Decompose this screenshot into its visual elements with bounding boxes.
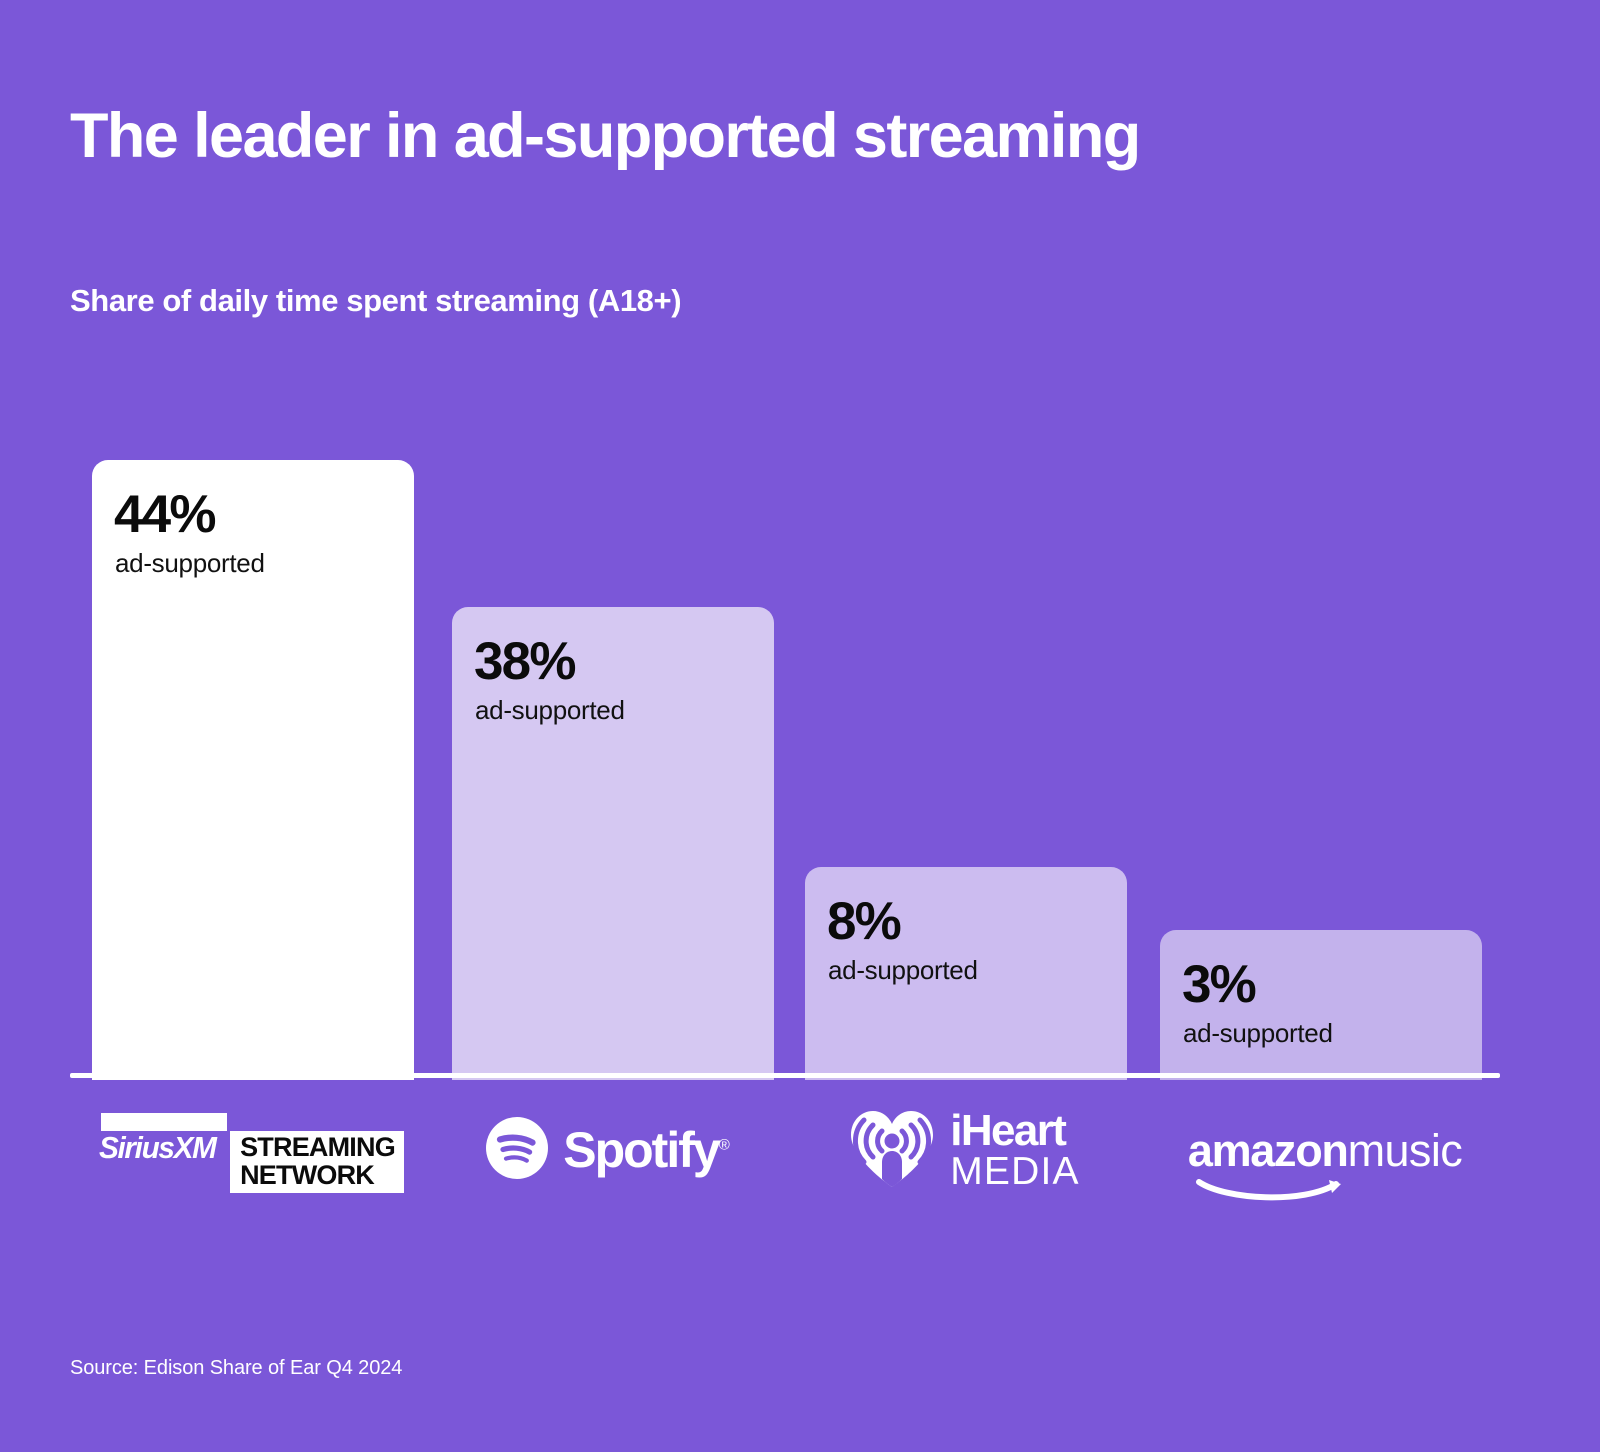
bar-value-label: 3%	[1182, 958, 1255, 1011]
spotify-wordmark-text: Spotify	[563, 1122, 718, 1178]
page-title: The leader in ad-supported streaming	[70, 102, 1470, 171]
bar-iheartmedia: 8% ad-supported	[805, 867, 1127, 1080]
amazon-smile-icon	[1196, 1166, 1348, 1192]
spotify-logo: Spotify®	[485, 1116, 730, 1185]
logo-slot-amazon-music: amazonmusic	[1140, 1085, 1510, 1215]
bar-chart-plot-area: 44% ad-supported 38% ad-supported 8% ad-…	[70, 400, 1530, 1080]
bar-sublabel: ad-supported	[475, 697, 625, 723]
siriusxm-top-bar-shape	[101, 1113, 227, 1131]
chart-axis-line	[70, 1073, 1500, 1078]
infographic-canvas: The leader in ad-supported streaming Sha…	[0, 0, 1600, 1452]
bar-sublabel: ad-supported	[115, 550, 265, 576]
spotify-wordmark: Spotify®	[563, 1125, 730, 1175]
streaming-network-line1: STREAMING	[240, 1134, 395, 1162]
streaming-network-line2: NETWORK	[240, 1162, 395, 1190]
siriusxm-streaming-network-logo: SiriusXM STREAMING NETWORK	[96, 1107, 404, 1193]
chart-subtitle: Share of daily time spent streaming (A18…	[70, 283, 1270, 319]
bar-value-label: 8%	[827, 895, 900, 948]
bar-value-label: 44%	[114, 488, 215, 541]
siriusxm-wordmark-block: SiriusXM	[96, 1107, 230, 1193]
iheart-wordmark-line2: MEDIA	[950, 1153, 1080, 1190]
amazon-music-logo: amazonmusic	[1188, 1128, 1462, 1173]
siriusxm-wordmark: SiriusXM	[99, 1132, 216, 1163]
iheartmedia-logo: iHeart MEDIA	[845, 1107, 1080, 1194]
logo-slot-siriusxm: SiriusXM STREAMING NETWORK	[70, 1085, 430, 1215]
music-wordmark: music	[1348, 1125, 1463, 1176]
iheart-heart-waves-icon	[845, 1107, 939, 1194]
bar-amazon-music: 3% ad-supported	[1160, 930, 1482, 1080]
brand-logo-row: SiriusXM STREAMING NETWORK	[70, 1085, 1510, 1215]
logo-slot-iheartmedia: iHeart MEDIA	[785, 1085, 1140, 1215]
spotify-mark-icon	[485, 1116, 549, 1185]
spotify-registered-mark: ®	[719, 1136, 730, 1153]
bar-siriusxm: 44% ad-supported	[92, 460, 414, 1080]
bar-spotify: 38% ad-supported	[452, 607, 774, 1080]
bar-value-label: 38%	[474, 635, 575, 688]
source-note: Source: Edison Share of Ear Q4 2024	[70, 1357, 402, 1380]
bar-sublabel: ad-supported	[828, 957, 978, 983]
streaming-network-block: STREAMING NETWORK	[230, 1131, 404, 1193]
logo-slot-spotify: Spotify®	[430, 1085, 785, 1215]
bar-sublabel: ad-supported	[1183, 1020, 1333, 1046]
iheart-wordmark-line1: iHeart	[950, 1110, 1080, 1152]
iheartmedia-wordmark: iHeart MEDIA	[950, 1110, 1080, 1190]
